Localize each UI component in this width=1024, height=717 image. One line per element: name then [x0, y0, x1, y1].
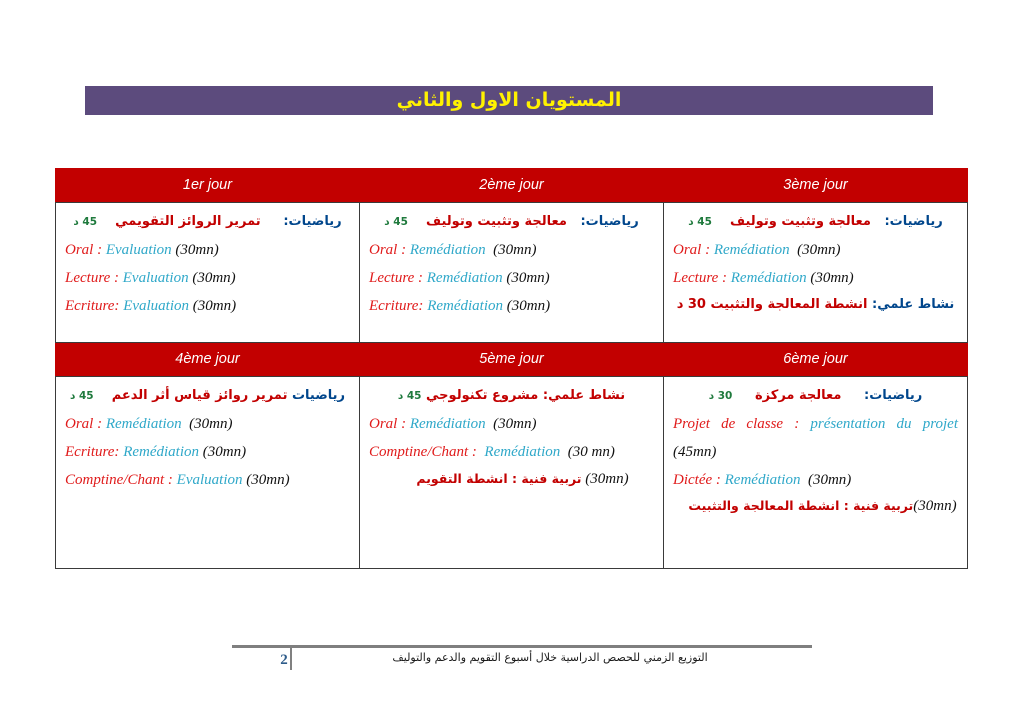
arabic-footer-subject: تربية فنية : انشطة التقويم: [416, 471, 581, 486]
activity-duration: (30 mn): [568, 444, 615, 460]
activity-duration: (30mn): [493, 242, 536, 258]
arabic-footer-line: تربية فنية : انشطة المعالجة والتثبيت(30m…: [673, 498, 958, 515]
arabic-footer-duration: (30mn): [585, 471, 628, 487]
table-row: 1er jour 2ème jour 3ème jour: [56, 169, 968, 203]
activity-line: Ecriture: Remédiation (30mn): [369, 297, 654, 316]
day-cell-6: رياضيات: معالجة مركزة 30 د Projet de cla…: [664, 377, 968, 569]
arabic-subject-line: رياضيات: تمرير الروائز التقويمي 45 د: [65, 214, 350, 229]
activity-line: Ecriture: Evaluation (30mn): [65, 297, 350, 316]
activity-value: Remédiation: [106, 416, 182, 432]
day-header-4: 4ème jour: [56, 343, 360, 377]
activity-line: Lecture : Evaluation (30mn): [65, 269, 350, 288]
table-row: رياضيات تمرير روائز قياس أثر الدعم 45 د …: [56, 377, 968, 569]
day-cell-4: رياضيات تمرير روائز قياس أثر الدعم 45 د …: [56, 377, 360, 569]
arabic-subject-line: رياضيات: معالجة وتثبيت وتوليف 45 د: [369, 214, 654, 229]
arabic-duration: 30 د: [709, 390, 733, 402]
footer-vertical-separator: [290, 648, 292, 670]
arabic-subject: نشاط علمي:: [543, 388, 625, 403]
arabic-duration: 45 د: [73, 216, 97, 228]
day-header-3: 3ème jour: [664, 169, 968, 203]
arabic-footer-line: نشاط علمي: انشطة المعالجة والتثبيت 30 د: [673, 297, 958, 312]
day-header-5: 5ème jour: [360, 343, 664, 377]
activity-line: Oral : Evaluation (30mn): [65, 241, 350, 260]
activity-duration: (30mn): [203, 444, 246, 460]
arabic-footer-subject: نشاط علمي:: [872, 297, 954, 312]
arabic-duration: 45 د: [70, 390, 94, 402]
arabic-footer-line: تربية فنية : انشطة التقويم (30mn): [369, 471, 654, 488]
activity-line: Dictée : Remédiation (30mn): [673, 471, 958, 490]
activity-value: Remédiation: [484, 444, 560, 460]
activity-label: Ecriture:: [65, 298, 119, 314]
activity-duration: (30mn): [493, 416, 536, 432]
page-title: المستويان الاول والثاني: [397, 91, 622, 110]
arabic-duration: 45 د: [688, 216, 712, 228]
table-row: 4ème jour 5ème jour 6ème jour: [56, 343, 968, 377]
activity-value: Evaluation: [123, 270, 189, 286]
activity-label: Ecriture:: [65, 444, 119, 460]
activity-line: Oral : Remédiation (30mn): [369, 415, 654, 434]
activity-line: Lecture : Remédiation (30mn): [369, 269, 654, 288]
arabic-duration: 45 د: [384, 216, 408, 228]
arabic-subject-line: نشاط علمي: مشروع تكنولوجي 45 د: [369, 388, 654, 403]
activity-line: Ecriture: Remédiation (30mn): [65, 443, 350, 462]
activity-label: Projet de classe :: [673, 416, 799, 432]
arabic-activity: معالجة مركزة: [755, 388, 841, 403]
activity-duration: (30mn): [192, 270, 235, 286]
footer-caption: التوزيع الزمني للحصص الدراسية خلال أسبوع…: [300, 651, 800, 664]
arabic-subject: رياضيات: [292, 388, 345, 403]
arabic-subject-line: رياضيات تمرير روائز قياس أثر الدعم 45 د: [65, 388, 350, 403]
activity-label: Oral :: [369, 242, 406, 258]
activity-value: Evaluation: [177, 472, 243, 488]
activity-label: Lecture :: [673, 270, 727, 286]
arabic-subject: رياضيات:: [580, 214, 638, 229]
arabic-subject-line: رياضيات: معالجة مركزة 30 د: [673, 388, 958, 403]
activity-label: Oral :: [673, 242, 710, 258]
activity-duration: (45mn): [673, 444, 716, 460]
weekly-schedule-table: 1er jour 2ème jour 3ème jour رياضيات: تم…: [55, 168, 968, 569]
activity-label: Comptine/Chant :: [369, 444, 477, 460]
activity-value: Remédiation: [731, 270, 807, 286]
activity-duration-line: (45mn): [673, 443, 958, 462]
activity-line: Oral : Remédiation (30mn): [369, 241, 654, 260]
activity-label: Oral :: [65, 416, 102, 432]
activity-value: Remédiation: [427, 270, 503, 286]
day-cell-3: رياضيات: معالجة وتثبيت وتوليف 45 د Oral …: [664, 203, 968, 343]
activity-value: Evaluation: [123, 298, 189, 314]
arabic-subject-line: رياضيات: معالجة وتثبيت وتوليف 45 د: [673, 214, 958, 229]
activity-value: Remédiation: [410, 416, 486, 432]
activity-duration: (30mn): [507, 298, 550, 314]
activity-value: Remédiation: [725, 472, 801, 488]
activity-duration: (30mn): [810, 270, 853, 286]
activity-duration: (30mn): [246, 472, 289, 488]
activity-duration: (30mn): [797, 242, 840, 258]
arabic-activity: مشروع تكنولوجي: [426, 388, 538, 403]
activity-line: Comptine/Chant : Evaluation (30mn): [65, 471, 350, 490]
activity-label: Oral :: [65, 242, 102, 258]
activity-value: Remédiation: [714, 242, 790, 258]
table-row: رياضيات: تمرير الروائز التقويمي 45 د Ora…: [56, 203, 968, 343]
arabic-duration: 45 د: [398, 390, 422, 402]
page-number: 2: [272, 652, 296, 669]
activity-value: Remédiation: [123, 444, 199, 460]
activity-line: Lecture : Remédiation (30mn): [673, 269, 958, 288]
activity-line: Oral : Remédiation (30mn): [65, 415, 350, 434]
activity-duration: (30mn): [193, 298, 236, 314]
activity-label: Ecriture:: [369, 298, 423, 314]
activity-value: Remédiation: [410, 242, 486, 258]
day-cell-5: نشاط علمي: مشروع تكنولوجي 45 د Oral : Re…: [360, 377, 664, 569]
activity-label: Comptine/Chant :: [65, 472, 173, 488]
activity-duration: (30mn): [175, 242, 218, 258]
arabic-footer-subject: تربية فنية : انشطة المعالجة والتثبيت: [688, 498, 913, 513]
day-header-1: 1er jour: [56, 169, 360, 203]
day-header-6: 6ème jour: [664, 343, 968, 377]
activity-value: Remédiation: [427, 298, 503, 314]
activity-label: Lecture :: [65, 270, 119, 286]
footer-divider-rule: [232, 645, 812, 648]
arabic-footer-value: انشطة المعالجة والتثبيت 30 د: [677, 297, 868, 312]
day-cell-2: رياضيات: معالجة وتثبيت وتوليف 45 د Oral …: [360, 203, 664, 343]
activity-label: Oral :: [369, 416, 406, 432]
activity-duration: (30mn): [808, 472, 851, 488]
activity-line: Comptine/Chant : Remédiation (30 mn): [369, 443, 654, 462]
activity-duration: (30mn): [189, 416, 232, 432]
arabic-activity: معالجة وتثبيت وتوليف: [426, 214, 567, 229]
activity-line: Projet de classe : présentation du proje…: [673, 415, 958, 434]
activity-duration: (30mn): [506, 270, 549, 286]
activity-value: Evaluation: [106, 242, 172, 258]
arabic-subject: رياضيات:: [884, 214, 942, 229]
title-banner: المستويان الاول والثاني: [85, 86, 933, 115]
arabic-footer-duration: (30mn): [913, 498, 956, 514]
arabic-activity: معالجة وتثبيت وتوليف: [730, 214, 871, 229]
day-cell-1: رياضيات: تمرير الروائز التقويمي 45 د Ora…: [56, 203, 360, 343]
arabic-subject: رياضيات:: [864, 388, 922, 403]
activity-label: Lecture :: [369, 270, 423, 286]
arabic-subject: رياضيات:: [283, 214, 341, 229]
activity-label: Dictée :: [673, 472, 721, 488]
day-header-2: 2ème jour: [360, 169, 664, 203]
activity-line: Oral : Remédiation (30mn): [673, 241, 958, 260]
arabic-activity: تمرير روائز قياس أثر الدعم: [112, 388, 288, 403]
activity-value: présentation du projet: [810, 416, 958, 432]
arabic-activity: تمرير الروائز التقويمي: [115, 214, 261, 229]
